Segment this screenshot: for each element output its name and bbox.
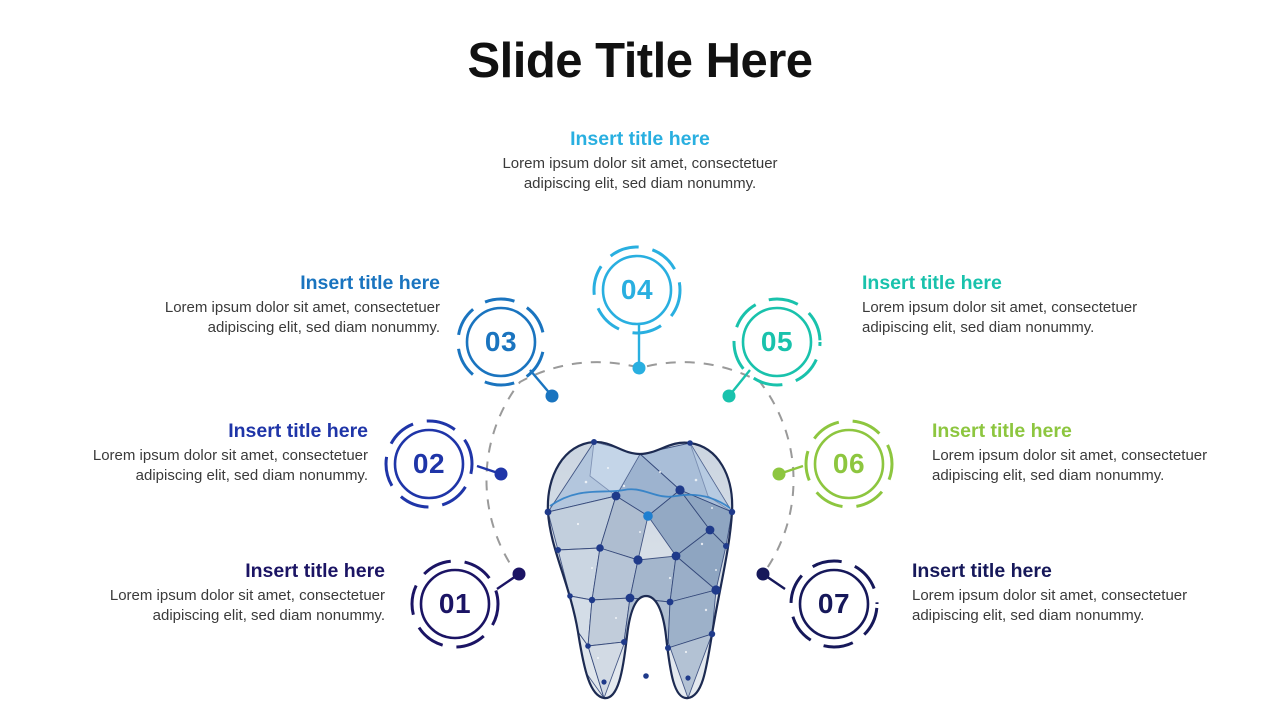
step-text-04: Insert title here Lorem ipsum dolor sit … [490, 128, 790, 194]
step-title-01: Insert title here [85, 560, 385, 582]
step-circle-05[interactable]: 05 [729, 294, 825, 390]
connector-dot-05 [723, 390, 736, 403]
step-title-03: Insert title here [140, 272, 440, 294]
step-circle-07[interactable]: 07 [786, 556, 882, 652]
step-circle-04[interactable]: 04 [589, 242, 685, 338]
step-number-05: 05 [729, 294, 825, 390]
step-number-02: 02 [381, 416, 477, 512]
tooth-lowpoly-graphic [520, 420, 760, 705]
step-number-06: 06 [801, 416, 897, 512]
step-circle-02[interactable]: 02 [381, 416, 477, 512]
step-number-03: 03 [453, 294, 549, 390]
step-body-02: Lorem ipsum dolor sit amet, consectetuer… [68, 446, 368, 486]
step-title-02: Insert title here [68, 420, 368, 442]
step-text-06: Insert title here Lorem ipsum dolor sit … [932, 420, 1242, 486]
connector-dot-04 [633, 362, 646, 375]
tooth-illustration [520, 420, 760, 705]
connector-dot-03 [546, 390, 559, 403]
connector-dot-02 [495, 468, 508, 481]
step-body-06: Lorem ipsum dolor sit amet, consectetuer… [932, 446, 1242, 486]
step-number-07: 07 [786, 556, 882, 652]
step-number-04: 04 [589, 242, 685, 338]
step-body-04: Lorem ipsum dolor sit amet, consectetuer… [490, 154, 790, 194]
connector-dot-06 [773, 468, 786, 481]
step-text-05: Insert title here Lorem ipsum dolor sit … [862, 272, 1172, 338]
step-title-04: Insert title here [490, 128, 790, 150]
step-body-03: Lorem ipsum dolor sit amet, consectetuer… [140, 298, 440, 338]
slide-canvas: Slide Title Here [0, 0, 1280, 720]
step-number-01: 01 [407, 556, 503, 652]
step-title-07: Insert title here [912, 560, 1222, 582]
step-body-07: Lorem ipsum dolor sit amet, consectetuer… [912, 586, 1222, 626]
step-body-05: Lorem ipsum dolor sit amet, consectetuer… [862, 298, 1172, 338]
step-body-01: Lorem ipsum dolor sit amet, consectetuer… [85, 586, 385, 626]
step-text-02: Insert title here Lorem ipsum dolor sit … [68, 420, 368, 486]
step-circle-01[interactable]: 01 [407, 556, 503, 652]
step-circle-03[interactable]: 03 [453, 294, 549, 390]
step-title-06: Insert title here [932, 420, 1242, 442]
step-text-01: Insert title here Lorem ipsum dolor sit … [85, 560, 385, 626]
step-circle-06[interactable]: 06 [801, 416, 897, 512]
step-text-03: Insert title here Lorem ipsum dolor sit … [140, 272, 440, 338]
step-text-07: Insert title here Lorem ipsum dolor sit … [912, 560, 1222, 626]
step-title-05: Insert title here [862, 272, 1172, 294]
